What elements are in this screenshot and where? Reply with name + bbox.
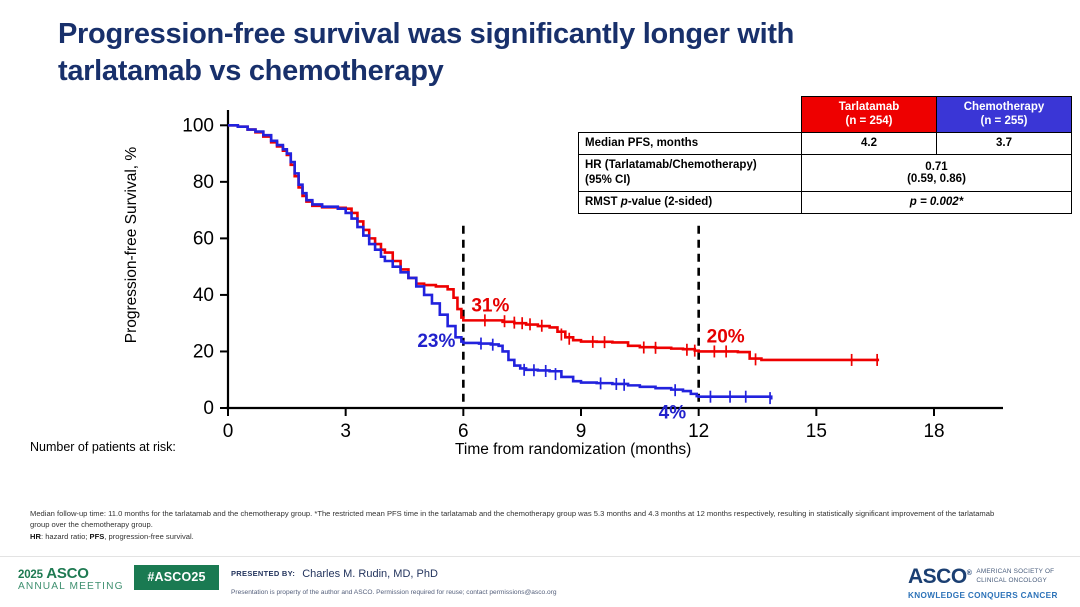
curve-annotation: 31% (471, 295, 509, 316)
y-axis-label: Progression-free Survival, % (123, 95, 141, 395)
asco-logo-subtitle: AMERICAN SOCIETY OFCLINICAL ONCOLOGY (976, 568, 1054, 585)
asco-logo-text: ASCO (908, 565, 967, 588)
kaplan-meier-chart: Progression-free Survival, % Time from r… (0, 86, 1010, 466)
footnotes: Median follow-up time: 11.0 months for t… (30, 508, 1005, 542)
km-plot-svg: 020406080100036912151831%23%20%4% (0, 86, 1010, 441)
asco-society-logo: ASCO®AMERICAN SOCIETY OFCLINICAL ONCOLOG… (908, 565, 1058, 600)
asco-annual-meeting-logo: 2025 ASCO ANNUAL MEETING (18, 566, 124, 592)
y-axis-tick-label: 40 (193, 285, 214, 306)
y-axis-tick-label: 0 (203, 398, 214, 419)
y-axis-tick-label: 100 (182, 115, 214, 136)
asco-logo-subtitle-line2: CLINICAL ONCOLOGY (976, 577, 1047, 584)
survival-curve-chemotherapy (228, 125, 771, 399)
registered-trademark-icon: ® (967, 570, 972, 577)
asco-meeting-subtitle: ANNUAL MEETING (18, 582, 124, 593)
x-axis-tick-label: 18 (923, 421, 944, 441)
permission-notice: Presentation is property of the author a… (231, 589, 557, 596)
asco-logo-wordmark: ASCO® (908, 565, 971, 589)
asco-logo-top-row: ASCO®AMERICAN SOCIETY OFCLINICAL ONCOLOG… (908, 565, 1058, 589)
asco-meeting-brand: ASCO (46, 565, 89, 582)
curve-annotation: 23% (417, 331, 455, 352)
y-axis-tick-label: 80 (193, 172, 214, 193)
presenter-block: PRESENTED BY:Charles M. Rudin, MD, PhD P… (231, 565, 557, 596)
x-axis-tick-label: 12 (688, 421, 709, 441)
footnote-abbrev-hr: HR (30, 532, 41, 541)
slide-footer: 2025 ASCO ANNUAL MEETING #ASCO25 PRESENT… (0, 556, 1080, 607)
conference-hashtag-badge: #ASCO25 (134, 565, 219, 590)
presented-by-label: PRESENTED BY: (231, 569, 295, 578)
asco-logo-tagline: KNOWLEDGE CONQUERS CANCER (908, 591, 1058, 600)
asco-logo-subtitle-line1: AMERICAN SOCIETY OF (976, 568, 1054, 575)
x-axis-tick-label: 9 (576, 421, 587, 441)
asco-meeting-logo-line1: 2025 ASCO (18, 566, 124, 582)
asco-meeting-year: 2025 (18, 569, 43, 581)
page-title: Progression-free survival was significan… (58, 16, 878, 90)
x-axis-label: Time from randomization (months) (455, 441, 691, 459)
curve-annotation: 20% (707, 326, 745, 347)
survival-curve-tarlatamab (228, 125, 879, 360)
footnote-abbrev-hr-def: : hazard ratio; (41, 532, 90, 541)
x-axis-tick-label: 0 (223, 421, 234, 441)
number-at-risk-title: Number of patients at risk: (30, 440, 176, 454)
footnote-line-2: HR: hazard ratio; PFS, progression-free … (30, 531, 1005, 542)
x-axis-tick-label: 6 (458, 421, 469, 441)
x-axis-tick-label: 3 (340, 421, 351, 441)
y-axis-tick-label: 60 (193, 228, 214, 249)
y-axis-tick-label: 20 (193, 341, 214, 362)
footnote-abbrev-pfs-def: , progression-free survival. (104, 532, 193, 541)
curve-annotation: 4% (659, 403, 687, 424)
presenter-name: Charles M. Rudin, MD, PhD (302, 568, 438, 580)
footnote-line-1: Median follow-up time: 11.0 months for t… (30, 508, 1005, 531)
footer-divider (0, 556, 1080, 557)
x-axis-tick-label: 15 (806, 421, 827, 441)
footnote-abbrev-pfs: PFS (90, 532, 105, 541)
